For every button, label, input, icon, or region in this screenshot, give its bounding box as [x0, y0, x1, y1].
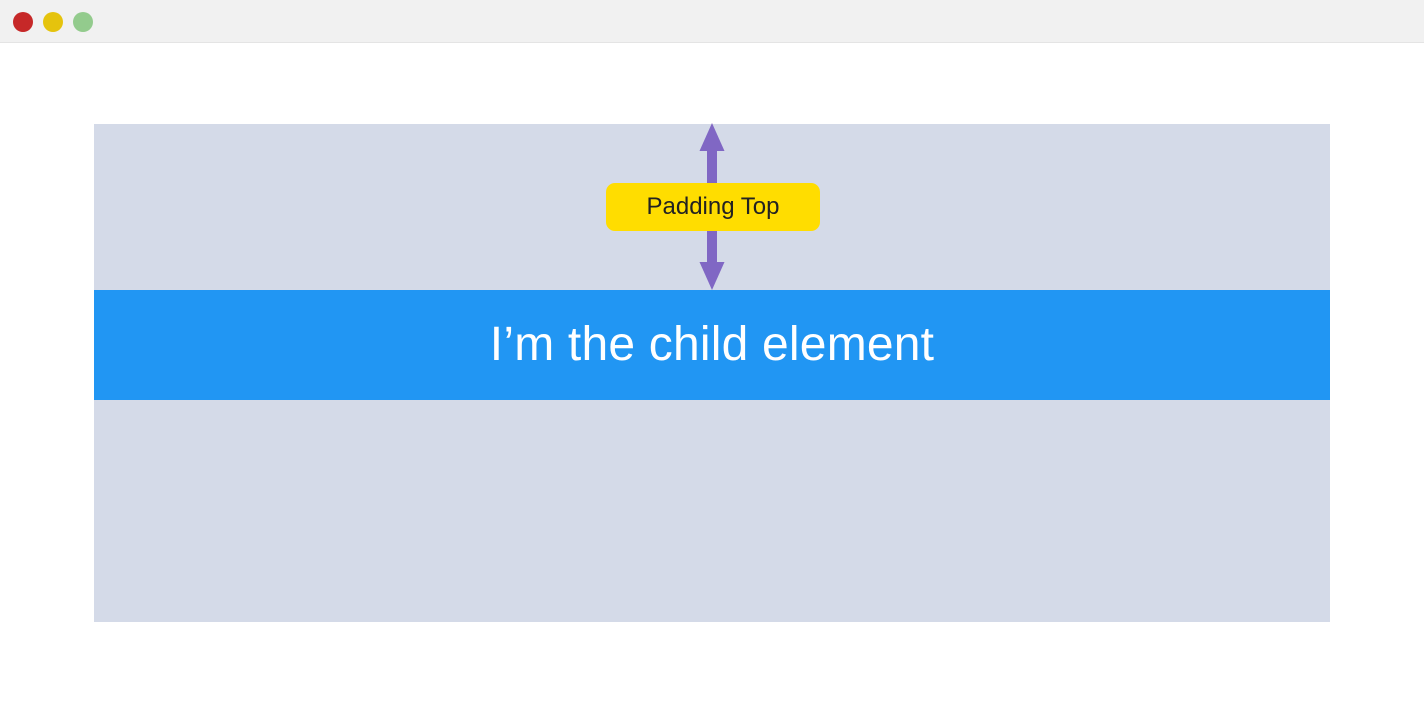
page-canvas: Padding Top I’m the child element	[0, 43, 1424, 720]
child-element-box: I’m the child element	[94, 290, 1330, 400]
window-controls	[13, 12, 93, 32]
padding-top-chip-label: Padding Top	[646, 195, 779, 219]
window-titlebar	[0, 0, 1424, 43]
parent-container-box: Padding Top I’m the child element	[94, 124, 1330, 622]
close-window-button[interactable]	[13, 12, 33, 32]
child-element-label: I’m the child element	[490, 321, 934, 369]
minimize-window-button[interactable]	[43, 12, 63, 32]
maximize-window-button[interactable]	[73, 12, 93, 32]
browser-window: Padding Top I’m the child element	[0, 0, 1424, 720]
padding-top-chip: Padding Top	[606, 183, 820, 231]
